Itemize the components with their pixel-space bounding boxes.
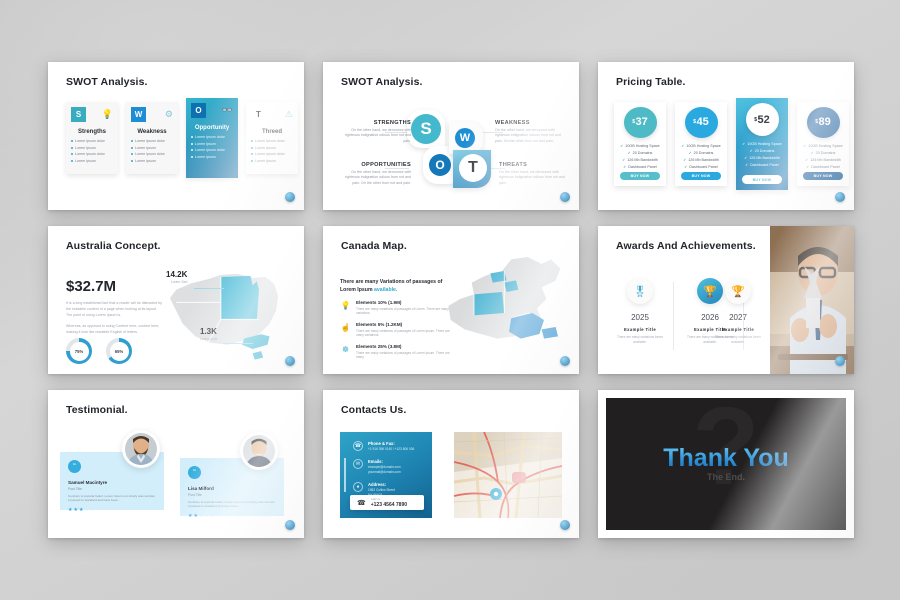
phone-handset-icon: ☎ [357,499,366,507]
check-icon: ✓ [623,165,626,169]
list-item: Lorem ipsum dolor [71,139,113,143]
feature-item: ✓20 Domains [618,151,662,155]
feature-item: ✓Dashboard Panel [679,165,723,169]
slide-swot-cards[interactable]: SWOT Analysis. S 💡 Strengths Lorem ipsum… [48,62,304,210]
bullet-dot [131,140,133,142]
donut-65: 65% [106,338,132,364]
avatar-bearded-man [122,430,160,468]
page-title: Pricing Table. [616,76,685,88]
swot-card-strengths[interactable]: S 💡 Strengths Lorem ipsum dolor Lorem ip… [66,102,118,174]
check-icon: ✓ [628,151,631,155]
medal-icon: 🎖 [627,278,653,304]
slide-swot-diagram[interactable]: SWOT Analysis. S W O T STRENGTHS On the … [323,62,579,210]
feature-item: ✓126 Mb Bandwidth [740,156,784,160]
feature-item: ✓10GB Hosting Space [740,142,784,146]
feature-list: ✓10GB Hosting Space ✓20 Domains ✓126 Mb … [797,144,849,172]
bullet-dot [71,153,73,155]
circle-o: O [429,154,451,176]
price-badge: $52 [746,103,779,136]
stat-paragraph-2: Whereas, as opposed to using Content her… [66,324,164,336]
list-item: Lorem ipsum [191,142,233,146]
buy-now-button[interactable]: BUY NOW [681,172,721,180]
stat-value: $32.7M [66,278,164,295]
slide-number-badge [285,192,295,202]
slide-awards-achievements[interactable]: Awards And Achievements. 🎖 2025 Example … [598,226,854,374]
check-icon: ✓ [622,158,625,162]
feature-item: ✓10GB Hosting Space [801,144,845,148]
feature-item: ✓Dashboard Panel [618,165,662,169]
bullet-dot [191,143,193,145]
price-badge: $89 [807,107,840,138]
circle-w: W [455,128,475,148]
bullet-dot [131,147,133,149]
slide-thank-you[interactable]: ? Thank You The End. [598,390,854,538]
list-item: Lorem ipsum dolor [131,152,173,156]
page-title: Awards And Achievements. [616,240,756,252]
callout-14-2k: 14.2K Lorem Sed [166,270,187,284]
award-subtitle: Example Title [610,327,670,332]
buy-now-button[interactable]: BUY NOW [803,172,843,180]
check-icon: ✓ [681,144,684,148]
man-holding-trophy-photo [770,226,854,374]
bullet-dot [131,153,133,155]
quote-text: Contrary to popular belief, Lorem Ipsum … [68,494,157,504]
letter-badge-w: W [131,107,146,122]
stat-block: $32.7M It is a long established fact tha… [66,278,164,336]
feature-item: ✓20 Domains [679,151,723,155]
award-subtitle: Example Title [708,327,768,332]
bullet-dot [251,153,253,155]
bullet-dot [251,147,253,149]
callout-1-3k: 1.3K Lorem style [200,327,218,341]
feature-item: ✓10GB Hosting Space [618,144,662,148]
list-item: Lorem ipsum [131,159,173,163]
card-heading: Strengths [71,129,113,135]
pricing-card-4[interactable]: $89 ✓10GB Hosting Space ✓20 Domains ✓126… [797,102,849,186]
contact-row-phone: ☎ Phone & Fax: +1 916 396 0140 / +123 80… [353,441,424,452]
author-name: Samuel Macintyre [68,480,157,485]
page-title: SWOT Analysis. [66,76,148,88]
thank-you-frame: ? Thank You The End. [598,390,854,538]
list-item: Lorem ipsum [131,146,173,150]
page-title: Canada Map. [341,240,407,252]
slide-number-badge [285,520,295,530]
swot-diagram: S W O T STRENGTHS On the other hand, we … [323,62,579,210]
street-map-photo [454,432,562,518]
author-role: Post Title [188,493,277,497]
stat-paragraph-1: It is a long established fact that a rea… [66,301,164,319]
buy-now-button[interactable]: BUY NOW [620,172,660,180]
avatar-young-man [240,432,278,470]
bullet-dot [191,149,193,151]
list-item: Lorem ipsum dolor [71,152,113,156]
location-pin-icon: ● [353,482,363,492]
phone-icon: ☎ [353,441,363,451]
card-header: W ⚙ [131,106,173,123]
list-item: Lorem ipsum dolor [191,135,233,139]
list-item: Lorem ipsum [71,146,113,150]
canada-map [439,244,579,368]
card-header: O 👓 [191,102,233,119]
award-year: 2025 [610,313,670,322]
check-icon: ✓ [805,158,808,162]
check-icon: ✓ [689,151,692,155]
bullet-dot [71,147,73,149]
page-title: Testimonial. [66,404,128,416]
trophy-icon: 🏆 [725,278,751,304]
slide-number-badge [560,192,570,202]
award-column-2027[interactable]: 🏆 2027 Example Title There are many vari… [708,278,768,345]
legend-item-3: ☸ Elements 25% (3.8M) There are many var… [340,344,452,360]
quote-icon: “ [68,460,81,473]
list-item: Lorem ipsum [71,159,113,163]
pricing-card-2[interactable]: $45 ✓10GB Hosting Space ✓20 Domains ✓126… [675,102,727,186]
binoculars-icon: 👓 [222,106,233,115]
callout-leader-line [223,343,253,344]
contact-info-panel: ☎ Phone & Fax: +1 916 396 0140 / +123 80… [340,432,432,518]
rating-stars[interactable]: ★★☆☆☆ [188,513,277,519]
network-icon: ☸ [340,344,351,355]
bulb-idea-icon: 💡 [340,300,351,311]
bullet-dot [71,160,73,162]
feature-item: ✓Dashboard Panel [740,163,784,167]
quadrant-strengths: STRENGTHS On the other hand, we denounce… [337,120,411,144]
alert-icon: ⚠ [285,110,293,119]
circle-t: T [459,154,487,182]
letter-badge-o: O [191,103,206,118]
check-icon: ✓ [806,165,809,169]
feature-item: ✓20 Domains [801,151,845,155]
price-badge: $45 [685,107,718,138]
bullet-dot [131,160,133,162]
canada-lead-text: There are many Variations of passages of… [340,278,445,294]
pricing-card-row: $37 ✓10GB Hosting Space ✓20 Domains ✓126… [614,102,849,190]
slide-canada-map[interactable]: Canada Map. There are many Variations of… [323,226,579,374]
bullet-dot [71,140,73,142]
thank-you-headline: Thank You [663,446,788,471]
bullet-list: Lorem ipsum dolor Lorem ipsum Lorem ipsu… [191,135,233,159]
feature-item: ✓20 Domains [740,149,784,153]
quote-icon: “ [188,466,201,479]
pricing-card-3[interactable]: $52 ✓10GB Hosting Space ✓20 Domains ✓126… [736,98,788,190]
check-icon: ✓ [811,151,814,155]
list-item: Lorem ipsum dolor [251,152,293,156]
feature-list: ✓10GB Hosting Space ✓20 Domains ✓126 Mb … [675,144,727,172]
award-year: 2027 [708,313,768,322]
list-item: Lorem ipsum [251,146,293,150]
quadrant-weakness: WEAKNESS On the other hand, we denounce … [495,120,569,144]
feature-item: ✓10GB Hosting Space [679,144,723,148]
card-heading: Opportunity [191,125,233,131]
pricing-card-1[interactable]: $37 ✓10GB Hosting Space ✓20 Domains ✓126… [614,102,666,186]
award-body: There are many variations lorem availabl… [708,335,768,345]
legend-item-2: ☝ Elements 5% (1.2KM) There are many var… [340,322,452,338]
quadrant-opportunities: OPPORTUNITIES On the other hand, we deno… [337,162,411,186]
feature-item: ✓126 Mb Bandwidth [618,158,662,162]
check-icon: ✓ [620,144,623,148]
slide-number-badge [285,356,295,366]
check-icon: ✓ [683,158,686,162]
slide-testimonial[interactable]: Testimonial. “ Samuel Macintyre Post Tit… [48,390,304,538]
list-item: Lorem ipsum dolor [251,139,293,143]
bullet-list: Lorem ipsum dolor Lorem ipsum Lorem ipsu… [251,139,293,163]
card-heading: Threed [251,129,293,135]
check-icon: ✓ [742,142,745,146]
slide-number-badge [560,356,570,366]
card-header: S 💡 [71,106,113,123]
slide-number-badge [560,520,570,530]
slide-number-badge [835,192,845,202]
circle-s: S [411,114,441,144]
check-icon: ✓ [684,165,687,169]
feature-item: ✓126 Mb Bandwidth [801,158,845,162]
page-title: Australia Concept. [66,240,161,252]
donut-75: 75% [66,338,92,364]
feature-list: ✓10GB Hosting Space ✓20 Domains ✓126 Mb … [736,142,788,170]
swot-card-threat[interactable]: T ⚠ Threed Lorem ipsum dolor Lorem ipsum… [246,102,298,174]
swot-card-opportunity[interactable]: O 👓 Opportunity Lorem ipsum dolor Lorem … [186,98,238,178]
feature-item: ✓126 Mb Bandwidth [679,158,723,162]
author-name: Lisa Milford [188,486,277,491]
bullet-dot [251,140,253,142]
award-body: There are many variations lorem availabl… [610,335,670,345]
buy-now-button[interactable]: BUY NOW [742,175,782,184]
slide-pricing-table[interactable]: Pricing Table. $37 ✓10GB Hosting Space ✓… [598,62,854,210]
list-item: Lorem ipsum dolor [131,139,173,143]
avatar-image [125,433,157,465]
page-title: Contacts Us. [341,404,406,416]
thank-you-subline: The End. [707,472,745,482]
legend-item-1: 💡 Elements 10% (1.9M) There are many var… [340,300,452,316]
callout-leader-line [194,288,224,289]
check-icon: ✓ [745,163,748,167]
price-badge: $37 [624,107,657,138]
check-icon: ✓ [744,156,747,160]
author-role: Post Title [68,487,157,491]
lightbulb-icon: 💡 [102,110,113,119]
list-item: Lorem ipsum dolor [191,148,233,152]
divider [673,282,674,350]
award-column-2025[interactable]: 🎖 2025 Example Title There are many vari… [610,278,670,345]
swot-card-weakness[interactable]: W ⚙ Weakness Lorem ipsum dolor Lorem ips… [126,102,178,174]
list-item: Lorem ipsum [251,159,293,163]
call-us-bar[interactable]: ☎ Call Us +123 4564 7890 [350,495,424,510]
donut-row: 75% 65% [66,338,132,364]
card-header: T ⚠ [251,106,293,123]
gear-icon: ⚙ [165,110,173,119]
feature-item: ✓Dashboard Panel [801,165,845,169]
bullet-dot [191,156,193,158]
avatar-image [243,435,275,467]
thank-you-canvas: ? Thank You The End. [606,398,846,530]
quote-text: Contrary to popular belief, Lorem Ipsum … [188,500,277,510]
slide-australia-concept[interactable]: Australia Concept. 14.2K Lorem Sed 1.3K … [48,226,304,374]
quadrant-threats: THREATS On the other hand, we denounce w… [499,162,573,186]
contact-row-email: ✉ Emails: example@domain.com yourmail@do… [353,459,424,475]
slide-number-badge [835,356,845,366]
bullet-list: Lorem ipsum dolor Lorem ipsum Lorem ipsu… [71,139,113,163]
list-item: Lorem ipsum [191,155,233,159]
rating-stars[interactable]: ★★★☆☆ [68,507,157,513]
letter-badge-s: S [71,107,86,122]
check-icon: ✓ [750,149,753,153]
bullet-dot [191,136,193,138]
mail-icon: ✉ [353,459,363,469]
bullet-dot [251,160,253,162]
feature-list: ✓10GB Hosting Space ✓20 Domains ✓126 Mb … [614,144,666,172]
letter-badge-t: T [251,107,266,122]
inline-link[interactable]: available. [374,287,397,293]
card-heading: Weakness [131,129,173,135]
swot-card-row: S 💡 Strengths Lorem ipsum dolor Lorem ip… [66,102,298,178]
slide-contacts-us[interactable]: Contacts Us. ☎ Phone & Fax: +1 916 396 0… [323,390,579,538]
slide-deck-grid: SWOT Analysis. S 💡 Strengths Lorem ipsum… [48,62,854,538]
check-icon: ✓ [803,144,806,148]
hand-click-icon: ☝ [340,322,351,333]
bullet-list: Lorem ipsum dolor Lorem ipsum Lorem ipsu… [131,139,173,163]
